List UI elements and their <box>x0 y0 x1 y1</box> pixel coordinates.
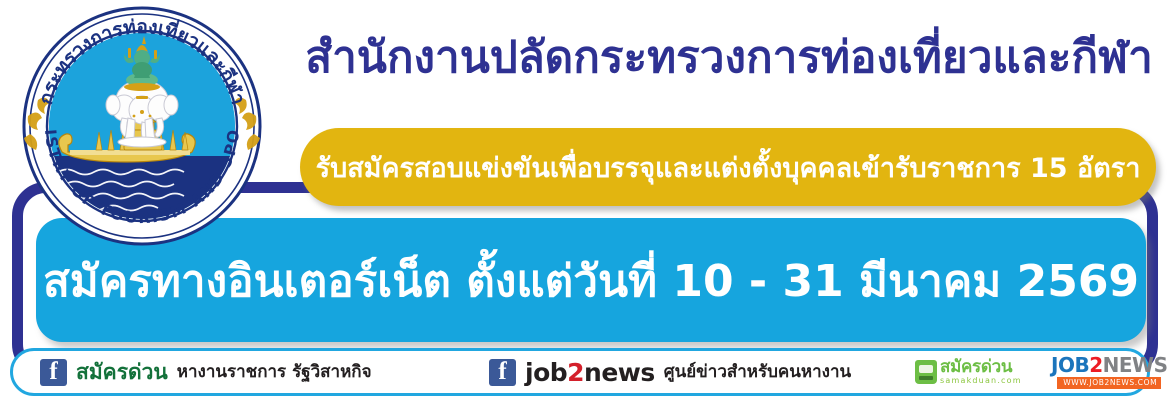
footer-tagline-samakduan: หางานราชการ รัฐวิสาหกิจ <box>177 364 372 381</box>
poster-canvas: กระทรวงการท่องเที่ยวและกีฬา MINISTRY OF … <box>0 0 1170 400</box>
footer-item-samakduan-facebook[interactable]: สมัครด่วน หางานราชการ รัฐวิสาหกิจ <box>40 359 372 386</box>
facebook-icon <box>40 359 67 386</box>
page-title: สำนักงานปลัดกระทรวงการท่องเที่ยวและกีฬา <box>296 22 1162 94</box>
samakduan-mark-icon <box>915 360 937 384</box>
job2news-logo-part3: NEWS <box>1103 353 1168 377</box>
job2news-logo-part2: 2 <box>1089 353 1102 377</box>
footer-brand-job2news: job2news <box>525 360 655 385</box>
footer-bar: สมัครด่วน หางานราชการ รัฐวิสาหกิจ job2ne… <box>10 348 1150 396</box>
job2news-logo-text: JOB2NEWS <box>1051 355 1167 375</box>
ministry-seal-logo: กระทรวงการท่องเที่ยวและกีฬา MINISTRY OF … <box>6 4 278 248</box>
footer-brand-job2news-part2: 2 <box>567 358 584 387</box>
job2news-logo-part1: JOB <box>1051 353 1089 377</box>
facebook-icon <box>489 359 516 386</box>
samakduan-logo-domain: samakduan.com <box>940 377 1022 385</box>
application-period-text: สมัครทางอินเตอร์เน็ต ตั้งแต่วันที่ 10 - … <box>43 256 1139 304</box>
samakduan-logo-text: สมัครด่วน <box>940 359 1022 376</box>
footer-logo-samakduan[interactable]: สมัครด่วน samakduan.com <box>915 359 1022 385</box>
announcement-gold-banner: รับสมัครสอบแข่งขันเพื่อบรรจุและแต่งตั้งบ… <box>300 128 1156 206</box>
footer-tagline-job2news: ศูนย์ข่าวสำหรับคนหางาน <box>664 364 851 381</box>
footer-brand-samakduan: สมัครด่วน <box>76 362 168 383</box>
footer-logo-job2news[interactable]: JOB2NEWS WWW.JOB2NEWS.COM <box>1051 355 1167 389</box>
announcement-text: รับสมัครสอบแข่งขันเพื่อบรรจุและแต่งตั้งบ… <box>316 153 1141 182</box>
footer-item-job2news-facebook[interactable]: job2news ศูนย์ข่าวสำหรับคนหางาน <box>489 359 851 386</box>
footer-brand-job2news-part1: job <box>525 358 567 387</box>
footer-brand-job2news-part3: news <box>584 358 655 387</box>
job2news-logo-url-bar: WWW.JOB2NEWS.COM <box>1057 377 1161 389</box>
